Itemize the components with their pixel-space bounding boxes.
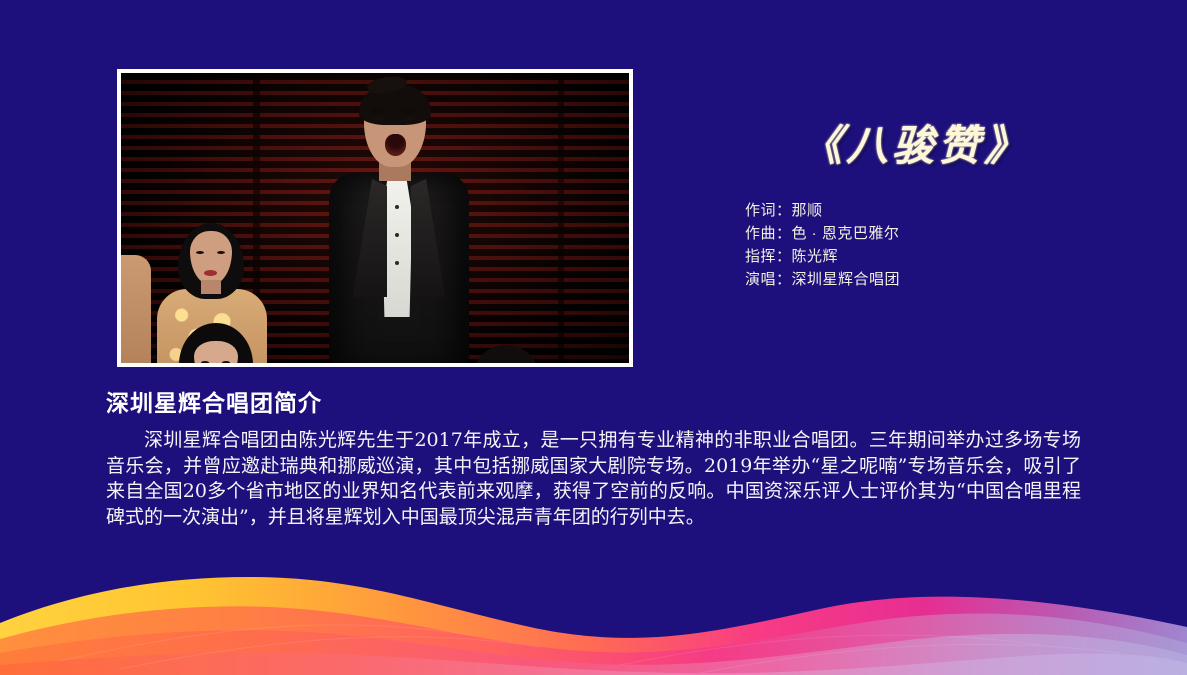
soloist-eye-right bbox=[404, 116, 415, 120]
choir-member-eye-left bbox=[196, 251, 204, 254]
song-title: 《八骏赞》 bbox=[700, 120, 1130, 173]
soloist-shirt-button bbox=[395, 233, 399, 237]
choir-member-eye-right bbox=[217, 251, 225, 254]
front-choir-member-eye-left bbox=[201, 361, 209, 363]
soloist-open-mouth bbox=[385, 134, 406, 156]
choir-member-partial-left bbox=[121, 255, 151, 363]
soloist-shirt-button bbox=[395, 261, 399, 265]
choir-member-lips bbox=[204, 270, 217, 276]
presentation-slide: 《八骏赞》 作词：那顺 作曲：色 · 恩克巴雅尔 指挥：陈光辉 演唱：深圳星辉合… bbox=[0, 0, 1187, 675]
decorative-wave-footer bbox=[0, 565, 1187, 675]
title-block: 《八骏赞》 作词：那顺 作曲：色 · 恩克巴雅尔 指挥：陈光辉 演唱：深圳星辉合… bbox=[700, 120, 1130, 291]
intro-body-text: 深圳星辉合唱团由陈光辉先生于2017年成立，是一只拥有专业精神的非职业合唱团。三… bbox=[106, 428, 1081, 530]
credit-performer: 演唱：深圳星辉合唱团 bbox=[745, 268, 1130, 291]
choir-member-neck bbox=[201, 280, 221, 294]
front-choir-member-eye-right bbox=[222, 361, 230, 363]
choir-introduction-section: 深圳星辉合唱团简介 深圳星辉合唱团由陈光辉先生于2017年成立，是一只拥有专业精… bbox=[106, 388, 1081, 530]
soloist-eye-left bbox=[373, 116, 384, 120]
credit-lyricist: 作词：那顺 bbox=[745, 199, 1130, 222]
credit-conductor: 指挥：陈光辉 bbox=[745, 245, 1130, 268]
credits-list: 作词：那顺 作曲：色 · 恩克巴雅尔 指挥：陈光辉 演唱：深圳星辉合唱团 bbox=[700, 199, 1130, 291]
credit-composer: 作曲：色 · 恩克巴雅尔 bbox=[745, 222, 1130, 245]
soloist-shirt-button bbox=[395, 205, 399, 209]
performance-photo-frame bbox=[117, 69, 633, 367]
performance-photo bbox=[121, 73, 629, 363]
intro-heading: 深圳星辉合唱团简介 bbox=[106, 388, 1081, 420]
front-choir-member-face bbox=[194, 341, 238, 363]
